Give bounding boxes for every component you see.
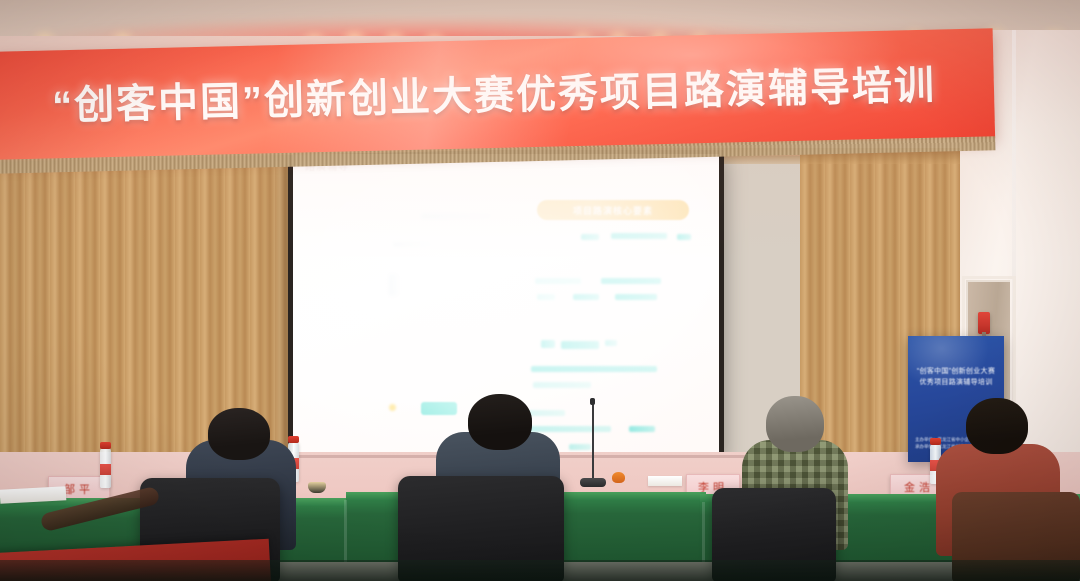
slide-badge-label: 项目路演核心要素 — [537, 200, 689, 220]
foreground-shadow — [0, 560, 1080, 581]
name-placard-label: 邹平 — [64, 481, 94, 497]
slide-text-line — [531, 366, 657, 372]
microphone-stem — [592, 404, 594, 480]
water-bottle-cap — [100, 442, 111, 449]
slide-text-line — [533, 382, 591, 388]
slide-text-line — [677, 234, 691, 240]
attendee-head — [766, 396, 824, 452]
tea-cup — [308, 482, 326, 493]
orange-desk-object — [612, 472, 625, 483]
water-bottle-cap — [930, 438, 941, 445]
conference-room-photo: 路演辅导 项目路演核心要素 — [0, 0, 1080, 581]
slide-title-badge: 项目路演核心要素 — [537, 200, 689, 220]
slide-bullet-dot — [389, 404, 396, 411]
slide-text-line — [561, 341, 599, 349]
water-bottle-label — [100, 464, 111, 475]
slide-faint-line — [421, 214, 491, 219]
slide-text-line — [605, 340, 617, 346]
slide-text-line — [535, 278, 581, 284]
slide-text-line — [537, 294, 555, 300]
microphone-head — [590, 398, 595, 405]
microphone-base — [580, 478, 606, 487]
attendee-head — [468, 394, 532, 450]
attendee-head — [966, 398, 1028, 454]
slide-highlight-chip — [421, 402, 457, 415]
slide-text-line — [573, 294, 599, 300]
slide-text-line — [581, 234, 599, 240]
document-sheet — [648, 476, 682, 486]
slide-text-line — [541, 340, 555, 348]
slide-faint-bar — [389, 274, 399, 296]
slide-text-line — [611, 233, 667, 239]
slide-faint-line — [393, 242, 433, 247]
slide-text-line — [601, 278, 661, 284]
table-seam — [702, 502, 705, 562]
slide-text-line — [615, 294, 657, 300]
standee-title-line-1: “创客中国”创新创业大赛 — [913, 366, 999, 377]
fire-extinguisher — [978, 312, 990, 334]
event-banner: “创客中国”创新创业大赛优秀项目路演辅导培训 — [0, 28, 995, 162]
slide-text-line — [629, 426, 655, 432]
standee-title: “创客中国”创新创业大赛 优秀项目路演辅导培训 — [913, 366, 999, 388]
slide-text-line — [569, 444, 591, 450]
attendee-head — [208, 408, 270, 460]
table-seam — [344, 500, 347, 562]
standee-title-line-2: 优秀项目路演辅导培训 — [913, 377, 999, 388]
water-bottle-cap — [288, 436, 299, 443]
